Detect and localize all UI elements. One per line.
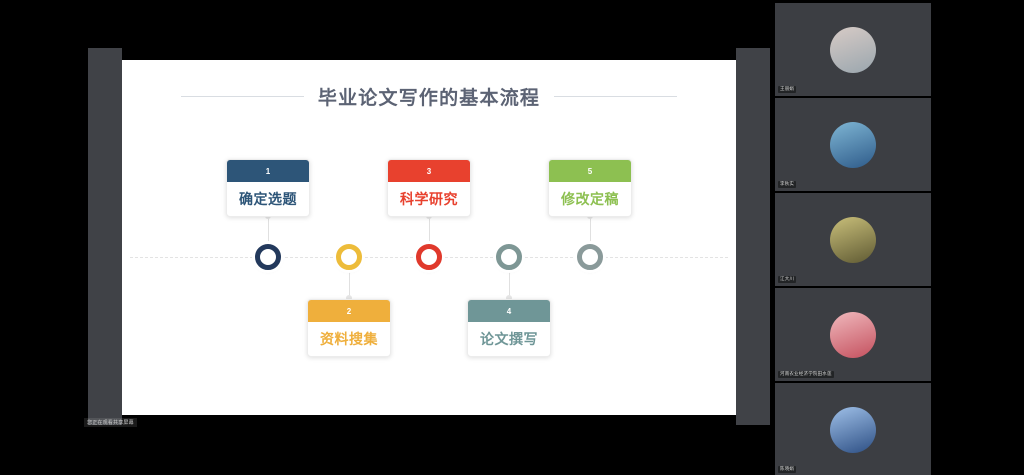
- presentation-slide[interactable]: 毕业论文写作的基本流程 1确定选题2资料搜集3科学研究4论文撰写5修改定稿: [122, 60, 736, 415]
- avatar: [830, 27, 876, 73]
- node-connector: [590, 216, 591, 242]
- step-label: 论文撰写: [468, 322, 550, 356]
- step-label: 确定选题: [227, 182, 309, 216]
- step-label: 科学研究: [388, 182, 470, 216]
- timeline-node-ring: [416, 244, 442, 270]
- stage-left-letterbox: [88, 48, 122, 425]
- avatar: [830, 122, 876, 168]
- participant-name: 河南农业经济学院田水莲: [778, 371, 834, 378]
- title-rule-left: [181, 96, 304, 97]
- timeline-node-ring: [577, 244, 603, 270]
- step-card-3: 3科学研究: [387, 159, 471, 217]
- page-title: 毕业论文写作的基本流程: [318, 83, 540, 110]
- participant-name: 江大川: [778, 276, 796, 283]
- participant-tile[interactable]: 江大川: [775, 193, 931, 286]
- node-connector: [429, 216, 430, 242]
- timeline-node-ring: [496, 244, 522, 270]
- node-connector: [509, 272, 510, 298]
- step-label: 资料搜集: [308, 322, 390, 356]
- participant-name: 李秋实: [778, 181, 796, 188]
- timeline-node-ring: [336, 244, 362, 270]
- node-connector: [349, 272, 350, 298]
- step-number: 4: [468, 300, 550, 322]
- shared-screen-stage[interactable]: 毕业论文写作的基本流程 1确定选题2资料搜集3科学研究4论文撰写5修改定稿 您正…: [0, 0, 770, 475]
- step-number: 2: [308, 300, 390, 322]
- participant-name: 陈晓娟: [778, 466, 796, 473]
- avatar: [830, 407, 876, 453]
- share-status-label: 您正在观看共享屏幕: [84, 418, 137, 427]
- node-connector: [268, 216, 269, 242]
- slide-title-row: 毕业论文写作的基本流程: [122, 82, 736, 110]
- step-card-1: 1确定选题: [226, 159, 310, 217]
- participant-sidebar[interactable]: 王丽娟李秋实江大川河南农业经济学院田水莲陈晓娟: [775, 0, 931, 475]
- step-number: 5: [549, 160, 631, 182]
- participant-tile[interactable]: 河南农业经济学院田水莲: [775, 288, 931, 381]
- step-number: 3: [388, 160, 470, 182]
- step-label: 修改定稿: [549, 182, 631, 216]
- participant-tile[interactable]: 李秋实: [775, 98, 931, 191]
- avatar: [830, 312, 876, 358]
- title-rule-right: [554, 96, 677, 97]
- timeline-node-ring: [255, 244, 281, 270]
- participant-tile[interactable]: 陈晓娟: [775, 383, 931, 475]
- step-number: 1: [227, 160, 309, 182]
- stage-right-letterbox: [736, 48, 770, 425]
- participant-tile[interactable]: 王丽娟: [775, 3, 931, 96]
- step-card-5: 5修改定稿: [548, 159, 632, 217]
- avatar: [830, 217, 876, 263]
- step-card-4: 4论文撰写: [467, 299, 551, 357]
- participant-name: 王丽娟: [778, 86, 796, 93]
- step-card-2: 2资料搜集: [307, 299, 391, 357]
